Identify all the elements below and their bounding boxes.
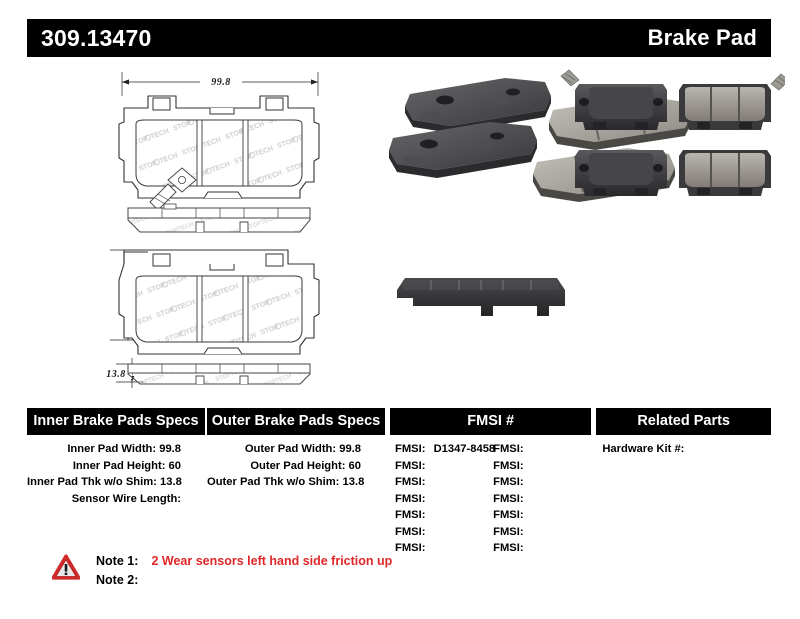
flat-pad-backing-bottom-left [575, 150, 667, 196]
spec-label: Inner Pad Thk w/o Shim: [27, 476, 157, 488]
notes-section: Note 1: 2 Wear sensors left hand side fr… [52, 552, 392, 590]
spec-value: 13.8 [160, 476, 182, 488]
pad-edge-bottom [128, 364, 310, 384]
spec-row: Inner Pad Thk w/o Shim: 13.8 [27, 474, 205, 491]
fmsi-row: FMSI: [493, 507, 591, 524]
outer-specs-body: Outer Pad Width: 99.8 Outer Pad Height: … [207, 435, 385, 491]
fmsi-row: FMSI: [493, 540, 591, 557]
brake-pad-spec-sheet: 309.13470 Brake Pad STOP TECH STOPTECH [0, 0, 800, 619]
fmsi-value [524, 509, 529, 521]
fmsi-value [524, 476, 529, 488]
spec-value: 13.8 [343, 476, 365, 488]
note-1-line: Note 1: 2 Wear sensors left hand side fr… [96, 552, 392, 571]
pad-edge-top [128, 204, 310, 232]
related-parts-column: Related Parts Hardware Kit #: [596, 408, 771, 458]
fmsi-value [524, 443, 529, 455]
fmsi-body: FMSI: D1347-8458 FMSI: FMSI: FMSI: [390, 435, 591, 557]
product-type: Brake Pad [648, 25, 757, 51]
fmsi-row: FMSI: [395, 507, 493, 524]
fmsi-label: FMSI: [493, 493, 523, 505]
spec-row: Inner Pad Height: 60 [27, 458, 205, 475]
width-dimension-label: 99.8 [211, 77, 231, 88]
fmsi-value [425, 526, 430, 538]
inner-specs-body: Inner Pad Width: 99.8 Inner Pad Height: … [27, 435, 205, 507]
inner-specs-header: Inner Brake Pads Specs [27, 408, 205, 435]
spec-row: Inner Pad Width: 99.8 [27, 441, 205, 458]
fmsi-label: FMSI: [395, 460, 425, 472]
technical-drawings: STOP TECH STOPTECH 99.8 [100, 62, 360, 392]
flat-pad-friction-top-right [679, 74, 785, 130]
note-1-label: Note 1: [96, 552, 148, 571]
fmsi-row: FMSI: [395, 491, 493, 508]
spec-row: Sensor Wire Length: [27, 491, 205, 508]
angled-pad-dark-front [389, 122, 537, 178]
spec-row: Outer Pad Width: 99.8 [207, 441, 385, 458]
fmsi-row: FMSI: [395, 474, 493, 491]
spec-value: 99.8 [339, 443, 361, 455]
fmsi-row: FMSI: [493, 474, 591, 491]
fmsi-label: FMSI: [493, 443, 523, 455]
spec-label: Inner Pad Height: [73, 460, 166, 472]
fmsi-row: FMSI: [395, 540, 493, 557]
related-part-value [684, 443, 689, 455]
fmsi-value [425, 460, 430, 472]
related-parts-body: Hardware Kit #: [596, 435, 771, 458]
header-bar: 309.13470 Brake Pad [27, 19, 771, 57]
fmsi-value [425, 509, 430, 521]
fmsi-row: FMSI: [493, 491, 591, 508]
fmsi-label: FMSI: [493, 460, 523, 472]
product-photos-svg [385, 62, 785, 392]
warning-triangle-icon [52, 554, 80, 580]
fmsi-value [524, 526, 529, 538]
fmsi-column: FMSI # FMSI: D1347-8458 FMSI: FMSI: [390, 408, 591, 557]
spec-label: Outer Pad Thk w/o Shim: [207, 476, 339, 488]
pad-face-top [119, 96, 319, 210]
fmsi-row: FMSI: [493, 441, 591, 458]
flat-pad-backing-top-left [561, 70, 667, 130]
fmsi-row: FMSI: [395, 458, 493, 475]
related-part-label: Hardware Kit #: [602, 443, 684, 455]
thickness-dimension-label: 13.8 [106, 369, 126, 380]
fmsi-label: FMSI: [493, 476, 523, 488]
spec-value: 60 [349, 460, 361, 472]
pad-drawings-svg: STOP TECH STOPTECH 99.8 [100, 62, 360, 392]
outer-specs-column: Outer Brake Pads Specs Outer Pad Width: … [207, 408, 385, 491]
fmsi-value [524, 542, 529, 554]
fmsi-header: FMSI # [390, 408, 591, 435]
spec-label: Sensor Wire Length: [72, 493, 181, 505]
spec-value: 60 [169, 460, 181, 472]
fmsi-left-subcolumn: FMSI: D1347-8458 FMSI: FMSI: FMSI: [395, 441, 493, 557]
fmsi-value [524, 493, 529, 505]
note-2-line: Note 2: [96, 571, 392, 590]
spec-label: Inner Pad Width: [67, 443, 156, 455]
flat-pad-friction-bottom-right [679, 150, 771, 196]
notes-lines: Note 1: 2 Wear sensors left hand side fr… [96, 552, 392, 590]
fmsi-label: FMSI: [493, 509, 523, 521]
fmsi-right-subcolumn: FMSI: FMSI: FMSI: FMSI: [493, 441, 591, 557]
fmsi-value [425, 476, 430, 488]
fmsi-label: FMSI: [493, 542, 523, 554]
fmsi-value: D1347-8458 [429, 443, 496, 455]
related-part-row: Hardware Kit #: [602, 441, 771, 458]
spec-label: Outer Pad Height: [250, 460, 345, 472]
fmsi-value [425, 542, 430, 554]
fmsi-label: FMSI: [493, 526, 523, 538]
spec-label: Outer Pad Width: [245, 443, 336, 455]
product-photos [385, 62, 785, 392]
outer-specs-header: Outer Brake Pads Specs [207, 408, 385, 435]
inner-specs-column: Inner Brake Pads Specs Inner Pad Width: … [27, 408, 205, 507]
fmsi-label: FMSI: [395, 443, 425, 455]
spec-row: Outer Pad Height: 60 [207, 458, 385, 475]
related-parts-header: Related Parts [596, 408, 771, 435]
spec-row: Outer Pad Thk w/o Shim: 13.8 [207, 474, 385, 491]
fmsi-label: FMSI: [395, 476, 425, 488]
fmsi-row: FMSI: [395, 524, 493, 541]
note-1-text: 2 Wear sensors left hand side friction u… [151, 554, 392, 568]
fmsi-label: FMSI: [395, 526, 425, 538]
fmsi-label: FMSI: [395, 542, 425, 554]
specifications-table: Inner Brake Pads Specs Inner Pad Width: … [27, 408, 771, 557]
note-2-label: Note 2: [96, 571, 148, 590]
fmsi-row: FMSI: [493, 524, 591, 541]
wear-sensor-clip-top-right [771, 74, 785, 90]
spec-value: 99.8 [159, 443, 181, 455]
fmsi-value [524, 460, 529, 472]
wear-sensor-clip-top-left [561, 70, 579, 86]
fmsi-row: FMSI: D1347-8458 [395, 441, 493, 458]
fmsi-label: FMSI: [395, 509, 425, 521]
fmsi-row: FMSI: [493, 458, 591, 475]
part-number: 309.13470 [41, 25, 152, 52]
fmsi-label: FMSI: [395, 493, 425, 505]
pad-face-bottom [119, 250, 319, 354]
fmsi-value [425, 493, 430, 505]
edge-profile-photo [397, 278, 565, 316]
